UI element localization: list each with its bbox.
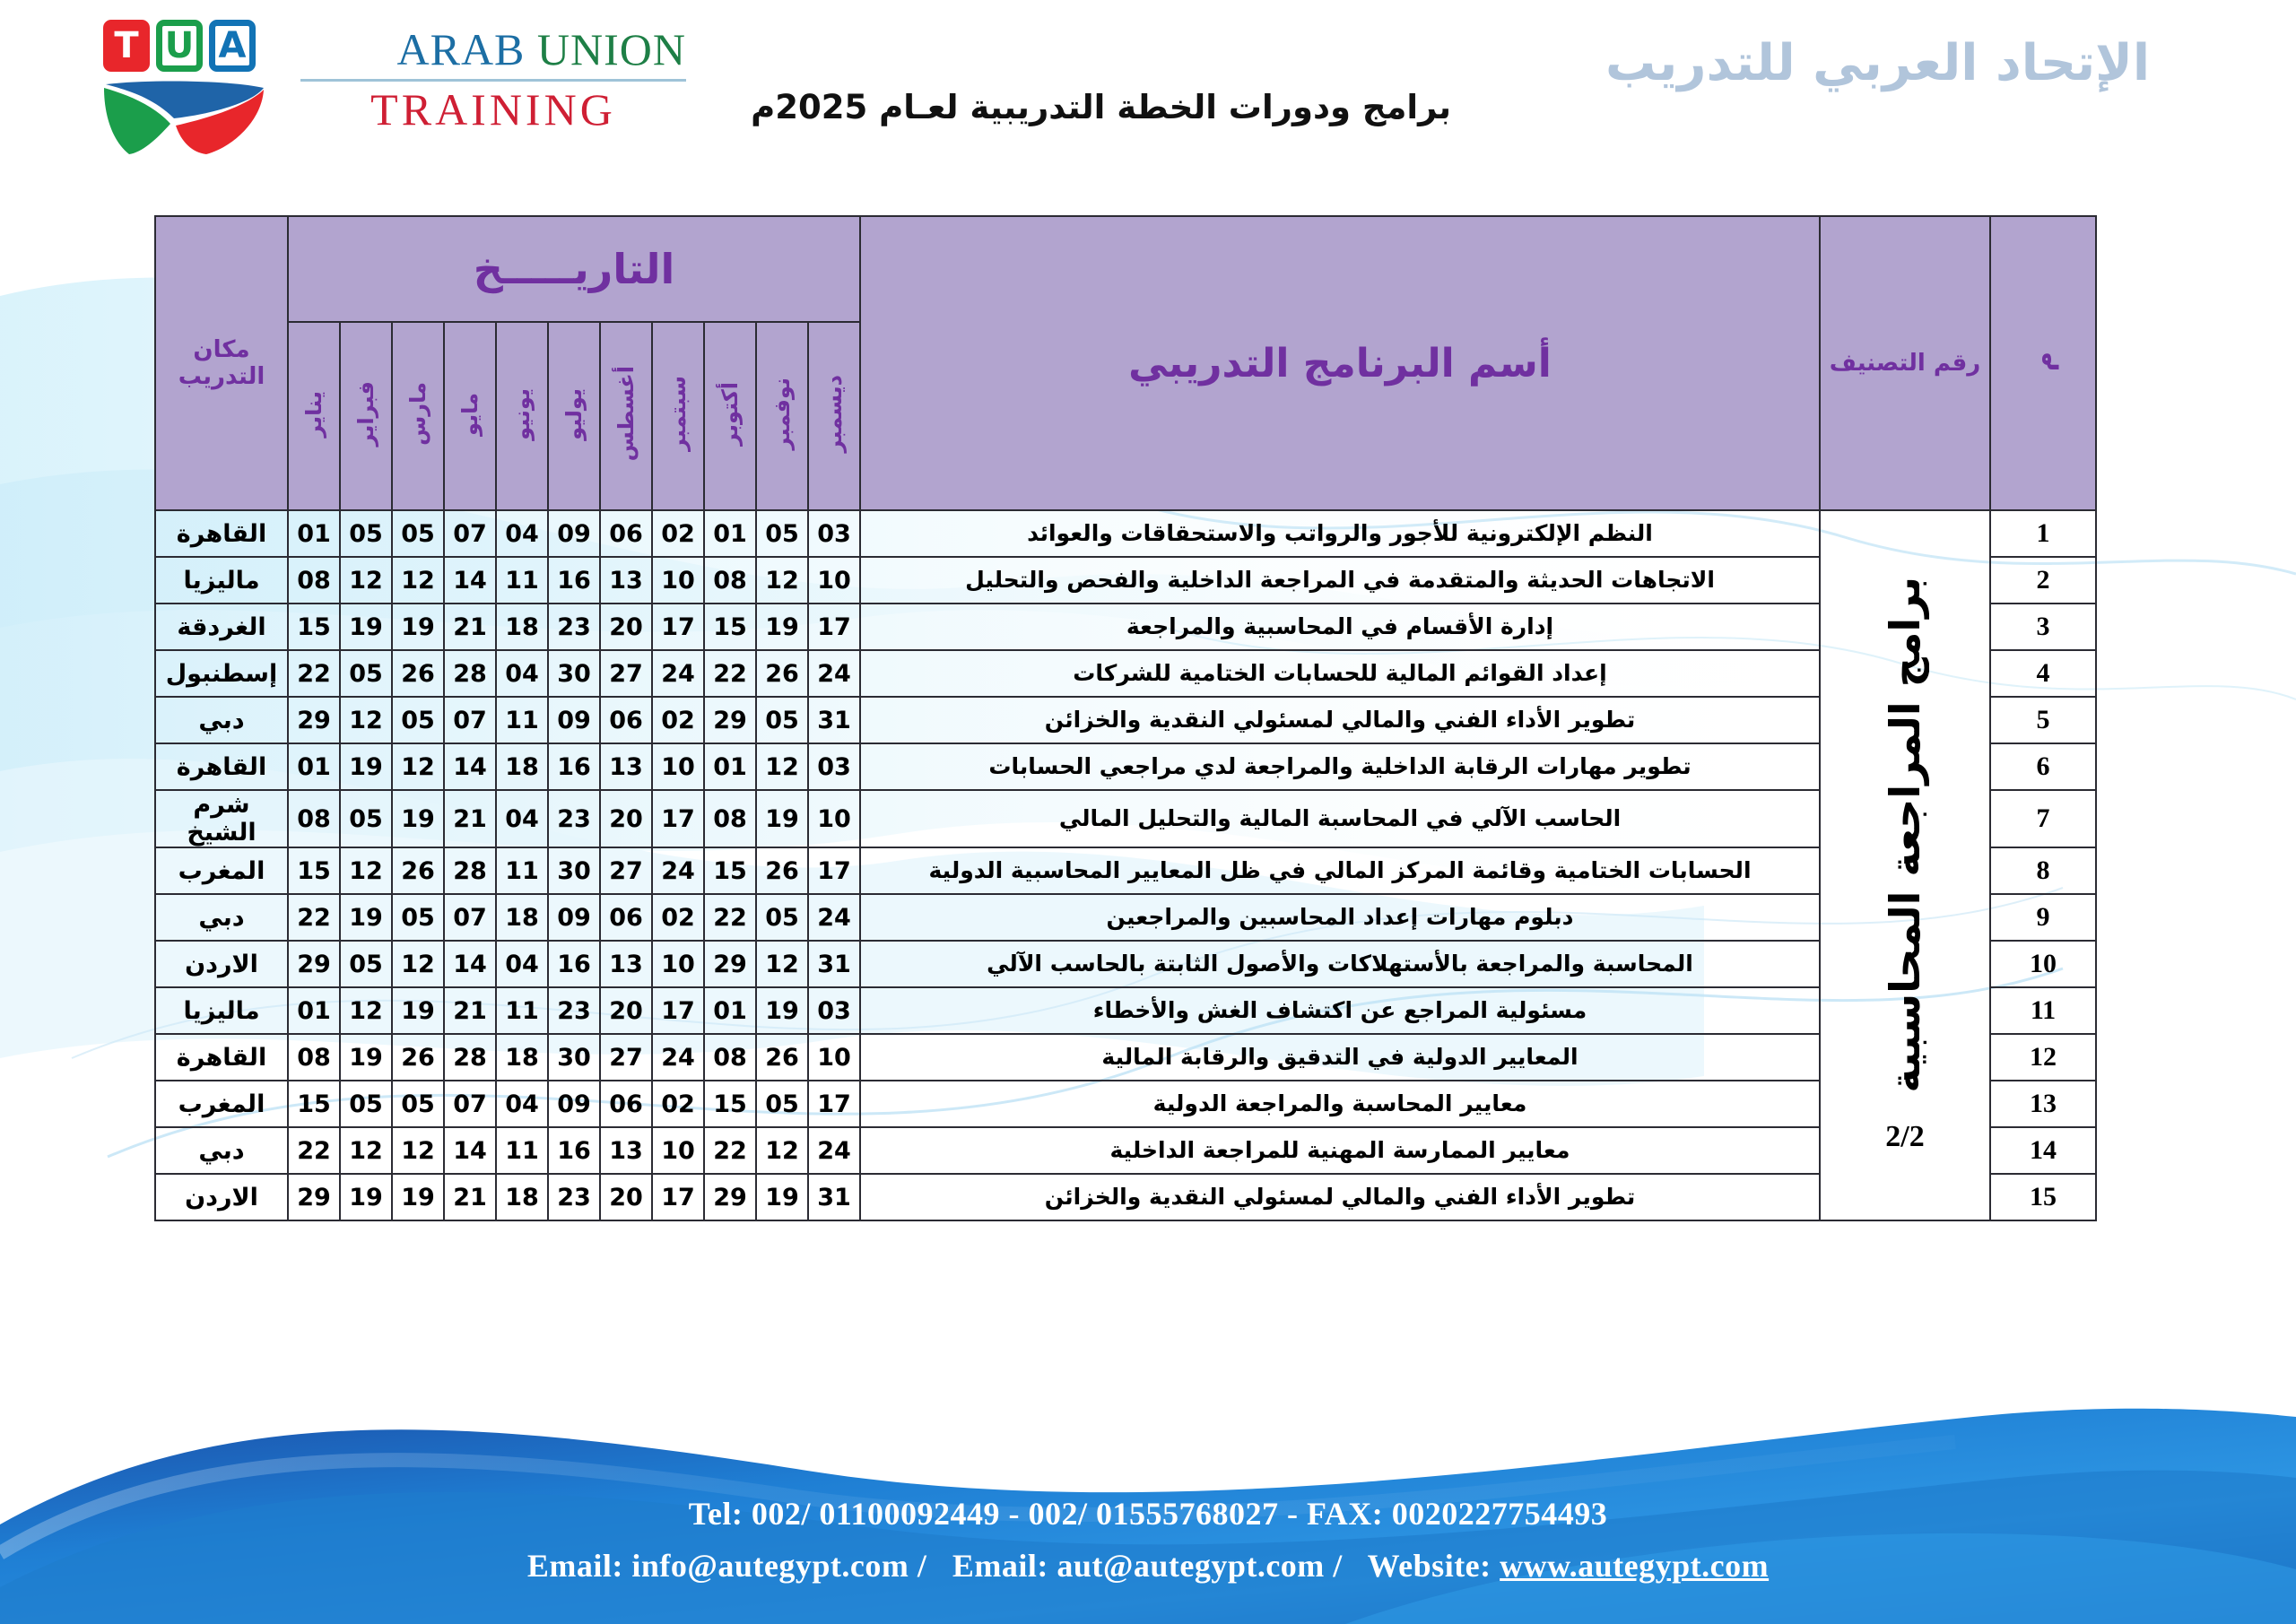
date-cell: 01 — [704, 743, 756, 790]
training-place-cell: إسطنبول — [155, 650, 288, 697]
footer-dash-1: - — [1008, 1496, 1020, 1532]
date-cell: 17 — [652, 987, 704, 1034]
date-cell: 05 — [340, 650, 392, 697]
header-month-february: فبراير — [340, 322, 392, 510]
date-cell: 19 — [392, 604, 444, 650]
date-cell: 15 — [704, 604, 756, 650]
program-name-cell: دبلوم مهارات إعداد المحاسبين والمراجعين — [860, 894, 1820, 941]
date-cell: 05 — [340, 1081, 392, 1127]
date-cell: 17 — [808, 604, 860, 650]
date-cell: 13 — [600, 1127, 652, 1174]
header-month-september: سبتمبر — [652, 322, 704, 510]
footer-contact-line: Email: info@autegypt.com / Email: aut@au… — [0, 1533, 2296, 1585]
row-index: 7 — [1990, 790, 2096, 847]
date-cell: 20 — [600, 987, 652, 1034]
date-cell: 06 — [600, 894, 652, 941]
date-cell: 01 — [704, 987, 756, 1034]
training-place-cell: القاهرة — [155, 510, 288, 557]
date-cell: 28 — [444, 847, 496, 894]
date-cell: 19 — [756, 1174, 808, 1220]
header-month-march: مارس — [392, 322, 444, 510]
program-name-cell: الحسابات الختامية وقائمة المركز المالي ف… — [860, 847, 1820, 894]
table-row: 7الحاسب الآلي في المحاسبة المالية والتحل… — [155, 790, 2096, 847]
date-cell: 23 — [548, 1174, 600, 1220]
header-seq: م — [1990, 216, 2096, 510]
date-cell: 05 — [392, 510, 444, 557]
date-cell: 18 — [496, 1034, 548, 1081]
footer-address: ميدان تريومف ـ مصر الجديدة ـ القاهرة — [0, 1431, 2296, 1482]
date-cell: 22 — [288, 650, 340, 697]
aut-logo: A U T ARAB UNION TRAINING — [99, 16, 691, 160]
date-cell: 19 — [756, 790, 808, 847]
header-date-group: التاريـــــخ — [288, 216, 860, 322]
aut-letter-boxes: A U T — [103, 20, 256, 72]
date-cell: 06 — [600, 1081, 652, 1127]
date-cell: 20 — [600, 1174, 652, 1220]
table-row: 3إدارة الأقسام في المحاسبية والمراجعة171… — [155, 604, 2096, 650]
date-cell: 03 — [808, 987, 860, 1034]
row-index: 4 — [1990, 650, 2096, 697]
logo-letter-a: A — [209, 20, 256, 72]
date-cell: 09 — [548, 894, 600, 941]
header-row-top: م رقم التصنيف أسم البرنامج التدريبي التا… — [155, 216, 2096, 322]
date-cell: 18 — [496, 743, 548, 790]
header-month-july: يوليو — [548, 322, 600, 510]
date-cell: 13 — [600, 941, 652, 987]
date-cell: 12 — [756, 743, 808, 790]
header-program-name-label: أسم البرنامج التدريبي — [1128, 341, 1552, 386]
header-place-label: مكان التدريب — [178, 336, 265, 390]
date-cell: 19 — [340, 604, 392, 650]
month-label: يوليو — [563, 388, 585, 440]
program-name-cell: المحاسبة والمراجعة بالأستهلاكات والأصول … — [860, 941, 1820, 987]
program-name-cell: الاتجاهات الحديثة والمتقدمة في المراجعة … — [860, 557, 1820, 604]
date-cell: 15 — [704, 1081, 756, 1127]
date-cell: 24 — [652, 650, 704, 697]
row-index: 14 — [1990, 1127, 2096, 1174]
date-cell: 12 — [340, 987, 392, 1034]
row-index: 9 — [1990, 894, 2096, 941]
logo-letter-u: U — [156, 20, 203, 72]
date-cell: 26 — [756, 650, 808, 697]
logo-letter-t: T — [103, 20, 150, 72]
row-index: 3 — [1990, 604, 2096, 650]
header-month-november: نوفمبر — [756, 322, 808, 510]
date-cell: 21 — [444, 790, 496, 847]
footer-email-1[interactable]: info@autegypt.com — [631, 1548, 909, 1584]
date-cell: 20 — [600, 604, 652, 650]
header-classification-label: رقم التصنيف — [1830, 350, 1981, 377]
date-cell: 24 — [652, 1034, 704, 1081]
date-cell: 29 — [704, 941, 756, 987]
organization-watermark: الإتحاد العربي للتدريب — [1605, 34, 2260, 92]
row-index: 6 — [1990, 743, 2096, 790]
program-name-cell: تطوير مهارات الرقابة الداخلية والمراجعة … — [860, 743, 1820, 790]
month-label: سبتمبر — [667, 376, 689, 451]
date-cell: 04 — [496, 510, 548, 557]
date-cell: 02 — [652, 1081, 704, 1127]
table-row: 4إعداد القوائم المالية للحسابات الختامية… — [155, 650, 2096, 697]
date-cell: 05 — [756, 894, 808, 941]
date-cell: 23 — [548, 790, 600, 847]
month-label: ديسمبر — [823, 375, 845, 453]
training-place-cell: ماليزيا — [155, 557, 288, 604]
date-cell: 16 — [548, 743, 600, 790]
date-cell: 12 — [392, 557, 444, 604]
date-cell: 05 — [340, 790, 392, 847]
date-cell: 11 — [496, 987, 548, 1034]
date-cell: 07 — [444, 894, 496, 941]
date-cell: 31 — [808, 941, 860, 987]
footer-separator-2: / — [1333, 1548, 1343, 1584]
date-cell: 22 — [288, 1127, 340, 1174]
date-cell: 01 — [704, 510, 756, 557]
date-cell: 28 — [444, 650, 496, 697]
header-month-october: أكتوبر — [704, 322, 756, 510]
header-place: مكان التدريب — [155, 216, 288, 510]
date-cell: 29 — [288, 697, 340, 743]
date-cell: 31 — [808, 697, 860, 743]
date-cell: 09 — [548, 510, 600, 557]
table-row: 1برامج المراجعة المحاسبية2/2النظم الإلكت… — [155, 510, 2096, 557]
date-cell: 04 — [496, 941, 548, 987]
date-cell: 21 — [444, 987, 496, 1034]
date-cell: 15 — [288, 1081, 340, 1127]
date-cell: 05 — [756, 697, 808, 743]
table-row: 14معايير الممارسة المهنية للمراجعة الداخ… — [155, 1127, 2096, 1174]
training-place-cell: دبي — [155, 894, 288, 941]
footer-website-link[interactable]: www.autegypt.com — [1500, 1548, 1769, 1584]
date-cell: 10 — [652, 941, 704, 987]
date-cell: 26 — [392, 650, 444, 697]
logo-word-training: TRAINING — [300, 83, 686, 135]
date-cell: 01 — [288, 743, 340, 790]
date-cell: 07 — [444, 1081, 496, 1127]
date-cell: 06 — [600, 510, 652, 557]
footer-tel-2: 002/ 01555768027 — [1028, 1496, 1278, 1532]
month-label: يونيو — [511, 388, 533, 440]
date-cell: 21 — [444, 1174, 496, 1220]
date-cell: 23 — [548, 604, 600, 650]
training-place-cell: دبي — [155, 1127, 288, 1174]
date-cell: 05 — [392, 894, 444, 941]
row-index: 12 — [1990, 1034, 2096, 1081]
date-cell: 12 — [340, 1127, 392, 1174]
logo-word-union: UNION — [537, 24, 686, 74]
date-cell: 04 — [496, 650, 548, 697]
date-cell: 10 — [652, 743, 704, 790]
row-index: 11 — [1990, 987, 2096, 1034]
month-label: مايو — [459, 393, 481, 436]
training-place-cell: القاهرة — [155, 1034, 288, 1081]
program-name-cell: معايير الممارسة المهنية للمراجعة الداخلي… — [860, 1127, 1820, 1174]
training-place-cell: ماليزيا — [155, 987, 288, 1034]
date-cell: 29 — [704, 1174, 756, 1220]
date-cell: 18 — [496, 894, 548, 941]
date-cell: 17 — [808, 847, 860, 894]
date-cell: 24 — [652, 847, 704, 894]
training-place-cell: القاهرة — [155, 743, 288, 790]
date-cell: 24 — [808, 894, 860, 941]
header-program-name: أسم البرنامج التدريبي — [860, 216, 1820, 510]
date-cell: 08 — [704, 790, 756, 847]
training-place-cell: الاردن — [155, 1174, 288, 1220]
date-cell: 14 — [444, 941, 496, 987]
date-cell: 05 — [756, 1081, 808, 1127]
logo-divider — [300, 79, 686, 82]
row-index: 8 — [1990, 847, 2096, 894]
date-cell: 11 — [496, 1127, 548, 1174]
header-classification: رقم التصنيف — [1820, 216, 1990, 510]
date-cell: 02 — [652, 510, 704, 557]
month-label: فبراير — [355, 381, 377, 447]
date-cell: 19 — [392, 987, 444, 1034]
date-cell: 31 — [808, 1174, 860, 1220]
date-cell: 09 — [548, 697, 600, 743]
date-cell: 08 — [704, 557, 756, 604]
page-title: برامج ودورات الخطة التدريبية لعـام 2025م — [752, 88, 1451, 126]
date-cell: 05 — [392, 1081, 444, 1127]
date-cell: 12 — [392, 1127, 444, 1174]
row-index: 10 — [1990, 941, 2096, 987]
header-seq-label: م — [2028, 352, 2059, 371]
date-cell: 13 — [600, 743, 652, 790]
date-cell: 16 — [548, 557, 600, 604]
table-row: 10المحاسبة والمراجعة بالأستهلاكات والأصو… — [155, 941, 2096, 987]
header-date-label: التاريـــــخ — [474, 245, 675, 293]
date-cell: 12 — [756, 557, 808, 604]
date-cell: 27 — [600, 847, 652, 894]
header-month-may: مايو — [444, 322, 496, 510]
date-cell: 01 — [288, 987, 340, 1034]
date-cell: 07 — [444, 697, 496, 743]
table-row: 5تطوير الأداء الفني والمالي لمسئولي النق… — [155, 697, 2096, 743]
table-row: 9دبلوم مهارات إعداد المحاسبين والمراجعين… — [155, 894, 2096, 941]
footer-tel-1: 002/ 01100092449 — [752, 1496, 1000, 1532]
training-place-cell: دبي — [155, 697, 288, 743]
header-month-august: أغسطس — [600, 322, 652, 510]
category-label: برامج المراجعة المحاسبية — [1881, 577, 1929, 1093]
date-cell: 22 — [704, 894, 756, 941]
date-cell: 10 — [652, 1127, 704, 1174]
date-cell: 22 — [704, 1127, 756, 1174]
date-cell: 26 — [392, 1034, 444, 1081]
program-name-cell: تطوير الأداء الفني والمالي لمسئولي النقد… — [860, 697, 1820, 743]
logo-word-arab: ARAB — [396, 24, 525, 74]
logo-wordmark: ARAB UNION TRAINING — [291, 23, 686, 135]
date-cell: 08 — [288, 1034, 340, 1081]
month-label: نوفمبر — [771, 378, 793, 450]
date-cell: 17 — [652, 1174, 704, 1220]
footer-fax-number: 0020227754493 — [1392, 1496, 1608, 1532]
date-cell: 15 — [704, 847, 756, 894]
table-header: م رقم التصنيف أسم البرنامج التدريبي التا… — [155, 216, 2096, 510]
footer-email-label-1: Email: — [527, 1548, 623, 1584]
date-cell: 29 — [288, 1174, 340, 1220]
date-cell: 22 — [288, 894, 340, 941]
date-cell: 14 — [444, 1127, 496, 1174]
logo-swoosh-icon — [99, 79, 269, 156]
date-cell: 11 — [496, 847, 548, 894]
footer-website-label: Website: — [1368, 1548, 1492, 1584]
program-name-cell: إعداد القوائم المالية للحسابات الختامية … — [860, 650, 1820, 697]
date-cell: 19 — [340, 1034, 392, 1081]
date-cell: 11 — [496, 557, 548, 604]
row-index: 1 — [1990, 510, 2096, 557]
table-row: 8الحسابات الختامية وقائمة المركز المالي … — [155, 847, 2096, 894]
training-place-cell: الغردقة — [155, 604, 288, 650]
date-cell: 26 — [756, 847, 808, 894]
month-label: يناير — [303, 391, 325, 438]
date-cell: 12 — [340, 847, 392, 894]
table-row: 6تطوير مهارات الرقابة الداخلية والمراجعة… — [155, 743, 2096, 790]
logo-line-arab-union: ARAB UNION — [291, 23, 686, 75]
date-cell: 30 — [548, 847, 600, 894]
date-cell: 17 — [652, 790, 704, 847]
footer-tel-label: Tel: — [689, 1496, 744, 1532]
header-month-january: يناير — [288, 322, 340, 510]
row-index: 2 — [1990, 557, 2096, 604]
date-cell: 04 — [496, 1081, 548, 1127]
date-cell: 26 — [392, 847, 444, 894]
date-cell: 05 — [340, 941, 392, 987]
date-cell: 15 — [288, 847, 340, 894]
month-label: أغسطس — [615, 366, 637, 461]
date-cell: 09 — [548, 1081, 600, 1127]
footer-separator-1: / — [918, 1548, 927, 1584]
date-cell: 24 — [808, 650, 860, 697]
date-cell: 17 — [652, 604, 704, 650]
page-header: A U T ARAB UNION TRAINING برامج ودورات ا… — [0, 0, 2296, 193]
date-cell: 19 — [392, 1174, 444, 1220]
date-cell: 08 — [288, 790, 340, 847]
date-cell: 05 — [340, 510, 392, 557]
date-cell: 10 — [808, 790, 860, 847]
row-index: 5 — [1990, 697, 2096, 743]
category-cell: برامج المراجعة المحاسبية2/2 — [1820, 510, 1990, 1220]
date-cell: 22 — [704, 650, 756, 697]
date-cell: 14 — [444, 557, 496, 604]
date-cell: 21 — [444, 604, 496, 650]
date-cell: 19 — [756, 987, 808, 1034]
date-cell: 29 — [704, 697, 756, 743]
date-cell: 10 — [652, 557, 704, 604]
date-cell: 02 — [652, 894, 704, 941]
date-cell: 05 — [392, 697, 444, 743]
date-cell: 12 — [340, 697, 392, 743]
date-cell: 05 — [756, 510, 808, 557]
page-footer: ميدان تريومف ـ مصر الجديدة ـ القاهرة Tel… — [0, 1431, 2296, 1624]
category-page-number: 2/2 — [1821, 1120, 1989, 1154]
program-name-cell: إدارة الأقسام في المحاسبية والمراجعة — [860, 604, 1820, 650]
footer-phone-line: Tel: 002/ 01100092449 - 002/ 01555768027… — [0, 1482, 2296, 1533]
footer-email-label-2: Email: — [952, 1548, 1048, 1584]
table-row: 15تطوير الأداء الفني والمالي لمسئولي الن… — [155, 1174, 2096, 1220]
date-cell: 16 — [548, 1127, 600, 1174]
date-cell: 29 — [288, 941, 340, 987]
training-place-cell: المغرب — [155, 847, 288, 894]
date-cell: 12 — [392, 941, 444, 987]
row-index: 13 — [1990, 1081, 2096, 1127]
date-cell: 12 — [756, 941, 808, 987]
date-cell: 03 — [808, 743, 860, 790]
date-cell: 19 — [340, 743, 392, 790]
date-cell: 18 — [496, 1174, 548, 1220]
month-label: أكتوبر — [719, 382, 741, 446]
date-cell: 24 — [808, 1127, 860, 1174]
logo-mark: A U T — [99, 20, 278, 154]
date-cell: 28 — [444, 1034, 496, 1081]
date-cell: 23 — [548, 987, 600, 1034]
date-cell: 19 — [340, 894, 392, 941]
program-name-cell: الحاسب الآلي في المحاسبة المالية والتحلي… — [860, 790, 1820, 847]
program-name-cell: تطوير الأداء الفني والمالي لمسئولي النقد… — [860, 1174, 1820, 1220]
date-cell: 07 — [444, 510, 496, 557]
date-cell: 08 — [704, 1034, 756, 1081]
header-month-december: ديسمبر — [808, 322, 860, 510]
table-row: 2الاتجاهات الحديثة والمتقدمة في المراجعة… — [155, 557, 2096, 604]
date-cell: 10 — [808, 1034, 860, 1081]
date-cell: 04 — [496, 790, 548, 847]
date-cell: 17 — [808, 1081, 860, 1127]
program-name-cell: النظم الإلكترونية للأجور والرواتب والاست… — [860, 510, 1820, 557]
date-cell: 18 — [496, 604, 548, 650]
program-name-cell: المعايير الدولية في التدقيق والرقابة الم… — [860, 1034, 1820, 1081]
table-row: 11مسئولية المراجع عن اكتشاف الغش والأخطا… — [155, 987, 2096, 1034]
date-cell: 20 — [600, 790, 652, 847]
date-cell: 30 — [548, 1034, 600, 1081]
date-cell: 27 — [600, 1034, 652, 1081]
footer-email-2[interactable]: aut@autegypt.com — [1057, 1548, 1324, 1584]
date-cell: 14 — [444, 743, 496, 790]
footer-fax-label: FAX: — [1307, 1496, 1383, 1532]
table-row: 13معايير المحاسبة والمراجعة الدولية17051… — [155, 1081, 2096, 1127]
date-cell: 30 — [548, 650, 600, 697]
date-cell: 26 — [756, 1034, 808, 1081]
date-cell: 12 — [392, 743, 444, 790]
date-cell: 19 — [756, 604, 808, 650]
date-cell: 06 — [600, 697, 652, 743]
date-cell: 12 — [340, 557, 392, 604]
footer-dash-2: - — [1287, 1496, 1299, 1532]
date-cell: 10 — [808, 557, 860, 604]
date-cell: 27 — [600, 650, 652, 697]
training-place-cell: شرم الشيخ — [155, 790, 288, 847]
program-name-cell: مسئولية المراجع عن اكتشاف الغش والأخطاء — [860, 987, 1820, 1034]
date-cell: 01 — [288, 510, 340, 557]
date-cell: 08 — [288, 557, 340, 604]
training-plan-table-wrapper: م رقم التصنيف أسم البرنامج التدريبي التا… — [154, 215, 2097, 1221]
program-name-cell: معايير المحاسبة والمراجعة الدولية — [860, 1081, 1820, 1127]
date-cell: 16 — [548, 941, 600, 987]
date-cell: 13 — [600, 557, 652, 604]
training-place-cell: الاردن — [155, 941, 288, 987]
date-cell: 03 — [808, 510, 860, 557]
row-index: 15 — [1990, 1174, 2096, 1220]
table-body: 1برامج المراجعة المحاسبية2/2النظم الإلكت… — [155, 510, 2096, 1220]
header-month-june: يونيو — [496, 322, 548, 510]
training-plan-table: م رقم التصنيف أسم البرنامج التدريبي التا… — [154, 215, 2097, 1221]
date-cell: 15 — [288, 604, 340, 650]
date-cell: 12 — [756, 1127, 808, 1174]
training-place-cell: المغرب — [155, 1081, 288, 1127]
date-cell: 02 — [652, 697, 704, 743]
date-cell: 11 — [496, 697, 548, 743]
month-label: مارس — [407, 382, 429, 446]
table-row: 12المعايير الدولية في التدقيق والرقابة ا… — [155, 1034, 2096, 1081]
date-cell: 19 — [340, 1174, 392, 1220]
date-cell: 19 — [392, 790, 444, 847]
